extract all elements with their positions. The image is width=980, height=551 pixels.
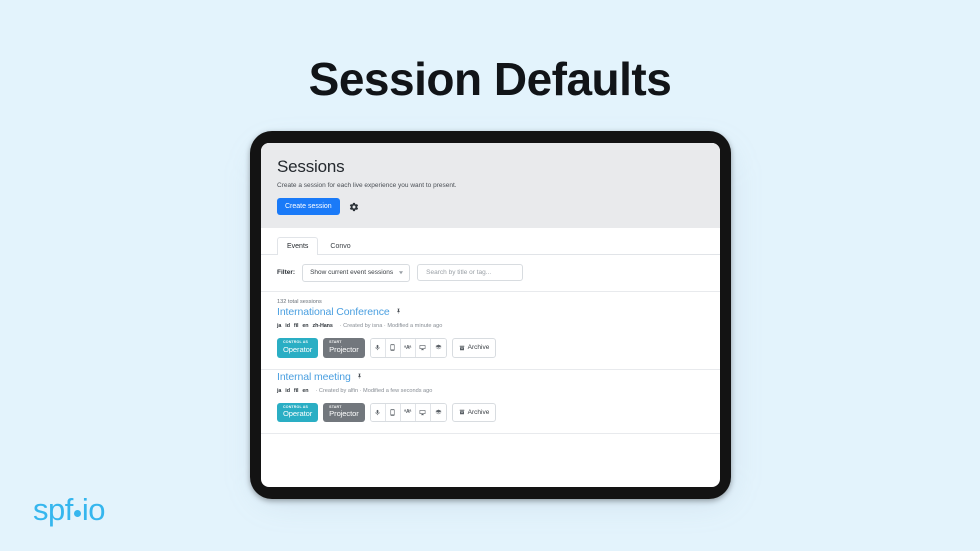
page-title: Session Defaults [0, 52, 980, 106]
projector-kicker: START [329, 406, 359, 410]
monitor-icon[interactable] [416, 404, 431, 422]
session-meta-text: · Created by isna · Modified a minute ag… [340, 323, 443, 329]
tablet-screen: Sessions Create a session for each live … [261, 143, 720, 487]
app-header: Sessions Create a session for each live … [261, 143, 720, 228]
translate-glyph: ᵃAᵃ [404, 409, 411, 415]
projector-kicker: START [329, 341, 359, 345]
filter-label: Filter: [277, 269, 295, 276]
session-meta-text: · Created by alfin · Modified a few seco… [315, 388, 432, 394]
brand-text-before: spf [33, 492, 73, 527]
microphone-icon[interactable] [371, 404, 386, 422]
mobile-icon[interactable] [386, 404, 401, 422]
projector-label: Projector [329, 410, 359, 418]
language-tag: fil [294, 323, 299, 329]
language-tag: en [302, 323, 308, 329]
archive-icon [459, 345, 465, 351]
total-sessions-count: 132 total sessions [261, 292, 720, 305]
session-title-line: International Conference [277, 306, 704, 318]
brand-logo: spfio [33, 494, 105, 525]
app-subheading: Create a session for each live experienc… [277, 182, 704, 189]
pin-icon[interactable] [395, 308, 402, 315]
filter-row: Filter: Show current event sessions [261, 255, 720, 292]
pin-icon[interactable] [356, 373, 363, 380]
operator-label: Operator [283, 410, 312, 418]
language-tag: zh-Hans [312, 323, 332, 329]
tab-events[interactable]: Events [277, 237, 318, 255]
header-actions: Create session [277, 198, 704, 215]
language-tag: id [285, 388, 290, 394]
start-projector-button[interactable]: START Projector [323, 338, 365, 358]
session-title-line: Internal meeting [277, 371, 704, 383]
language-tag: id [285, 323, 290, 329]
session-meta: ja id fil en zh-Hans · Created by isna ·… [277, 323, 704, 329]
control-as-operator-button[interactable]: CONTROL AS Operator [277, 338, 318, 358]
mobile-icon[interactable] [386, 339, 401, 357]
session-icon-button-group: ᵃAᵃ [370, 338, 447, 358]
session-action-bar: CONTROL AS Operator START Projector [277, 403, 704, 423]
operator-kicker: CONTROL AS [283, 341, 312, 345]
translate-icon[interactable]: ᵃAᵃ [401, 404, 416, 422]
operator-kicker: CONTROL AS [283, 406, 312, 410]
layers-icon[interactable] [431, 339, 446, 357]
archive-button[interactable]: Archive [452, 403, 497, 423]
brand-dot-icon [74, 510, 81, 517]
tablet-device-frame: Sessions Create a session for each live … [250, 131, 731, 499]
session-icon-button-group: ᵃAᵃ [370, 403, 447, 423]
session-title-link[interactable]: Internal meeting [277, 371, 351, 383]
archive-label: Archive [468, 344, 490, 351]
event-filter-select[interactable]: Show current event sessions [302, 264, 410, 282]
event-filter-value: Show current event sessions [310, 269, 393, 276]
archive-label: Archive [468, 409, 490, 416]
monitor-icon[interactable] [416, 339, 431, 357]
gear-icon[interactable] [349, 202, 359, 212]
session-row: International Conference ja id fil en zh… [261, 305, 720, 370]
language-tag: ja [277, 323, 281, 329]
projector-label: Projector [329, 346, 359, 354]
session-title-link[interactable]: International Conference [277, 306, 390, 318]
session-action-bar: CONTROL AS Operator START Projector [277, 338, 704, 358]
create-session-button[interactable]: Create session [277, 198, 340, 215]
microphone-icon[interactable] [371, 339, 386, 357]
archive-button[interactable]: Archive [452, 338, 497, 358]
app-heading: Sessions [277, 157, 704, 177]
language-tag: fil [294, 388, 299, 394]
tab-convo[interactable]: Convo [320, 237, 360, 255]
session-row: Internal meeting ja id fil en · Created … [261, 370, 720, 435]
control-as-operator-button[interactable]: CONTROL AS Operator [277, 403, 318, 423]
session-meta: ja id fil en · Created by alfin · Modifi… [277, 388, 704, 394]
start-projector-button[interactable]: START Projector [323, 403, 365, 423]
archive-icon [459, 409, 465, 415]
search-input[interactable] [417, 264, 523, 281]
translate-icon[interactable]: ᵃAᵃ [401, 339, 416, 357]
language-tag: en [302, 388, 308, 394]
brand-text-after: io [82, 492, 105, 527]
language-tag: ja [277, 388, 281, 394]
session-list: 132 total sessions International Confere… [261, 292, 720, 434]
tab-bar: Events Convo [261, 228, 720, 255]
translate-glyph: ᵃAᵃ [404, 345, 411, 351]
operator-label: Operator [283, 346, 312, 354]
layers-icon[interactable] [431, 404, 446, 422]
chevron-down-icon [399, 271, 403, 274]
